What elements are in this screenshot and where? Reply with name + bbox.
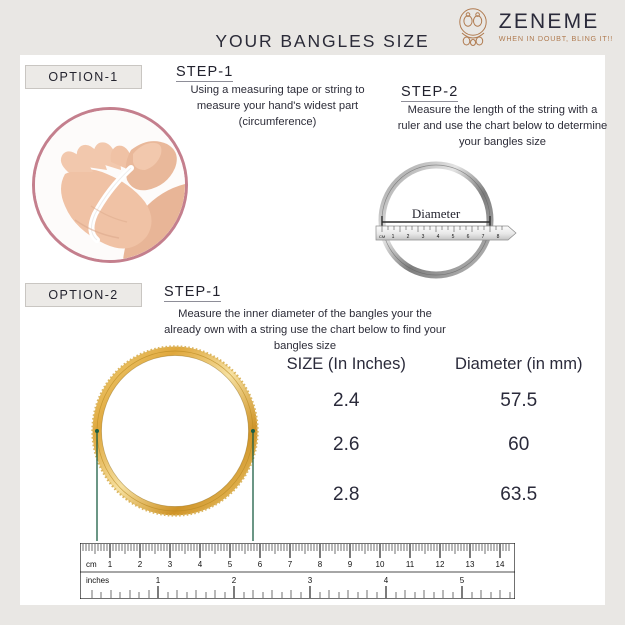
svg-text:13: 13 — [466, 560, 475, 569]
svg-text:12: 12 — [436, 560, 445, 569]
cell-size: 2.6 — [260, 424, 433, 470]
brand-name: ZENEME — [499, 11, 613, 32]
size-chart-table: SIZE (In Inches) Diameter (in mm) 2.4 57… — [260, 355, 605, 518]
svg-text:3: 3 — [168, 560, 173, 569]
svg-text:7: 7 — [288, 560, 293, 569]
column-header-diameter: Diameter (in mm) — [433, 355, 606, 378]
svg-text:4: 4 — [198, 560, 203, 569]
svg-text:8: 8 — [497, 234, 500, 240]
inches-label: inches — [86, 576, 109, 585]
cell-diameter: 57.5 — [433, 378, 606, 424]
cell-size: 2.4 — [260, 378, 433, 424]
step-1-text: Using a measuring tape or string to meas… — [170, 82, 385, 131]
option-1-step-2: STEP-2 Measure the length of the string … — [395, 83, 610, 151]
svg-text:2: 2 — [407, 234, 410, 240]
page-title: YOUR BANGLES SIZE — [215, 31, 430, 56]
svg-text:4: 4 — [437, 234, 440, 240]
table-row: 2.8 63.5 — [260, 470, 605, 518]
cell-diameter: 60 — [433, 424, 606, 470]
gold-bangle-photo — [75, 343, 275, 548]
svg-text:1: 1 — [392, 234, 395, 240]
step-2-text: Measure the length of the string with a … — [395, 102, 610, 151]
svg-text:14: 14 — [496, 560, 505, 569]
svg-text:1: 1 — [156, 576, 161, 585]
cm-label: cm — [86, 560, 97, 569]
svg-text:10: 10 — [376, 560, 385, 569]
column-header-size: SIZE (In Inches) — [260, 355, 433, 378]
diameter-label: Diameter — [412, 206, 461, 221]
brand-text: ZENEME WHEN IN DOUBT, BLING IT!! — [499, 11, 613, 42]
bottom-ruler: cm 123 456 789 101112 1314 inches 123 45 — [80, 543, 515, 599]
table-header-row: SIZE (In Inches) Diameter (in mm) — [260, 355, 605, 378]
svg-text:11: 11 — [406, 560, 415, 569]
table-row: 2.4 57.5 — [260, 378, 605, 424]
hand-with-string-illustration — [35, 110, 185, 260]
svg-text:3: 3 — [422, 234, 425, 240]
option-2-badge: OPTION-2 — [25, 283, 142, 307]
option-1-badge: OPTION-1 — [25, 65, 142, 89]
svg-text:5: 5 — [228, 560, 233, 569]
table-row: 2.6 60 — [260, 424, 605, 470]
hand-measure-photo — [32, 107, 188, 263]
svg-text:8: 8 — [318, 560, 323, 569]
cell-diameter: 63.5 — [433, 470, 606, 518]
svg-text:2: 2 — [232, 576, 237, 585]
svg-text:6: 6 — [258, 560, 263, 569]
svg-text:6: 6 — [467, 234, 470, 240]
svg-text:2: 2 — [138, 560, 143, 569]
svg-text:5: 5 — [460, 576, 465, 585]
silver-bangle-diameter-diagram: Diameter — [350, 160, 530, 280]
brand-logo: ZENEME WHEN IN DOUBT, BLING IT!! — [453, 6, 613, 48]
svg-text:1: 1 — [108, 560, 113, 569]
bangle-size-guide-page: ZENEME WHEN IN DOUBT, BLING IT!! YOUR BA… — [0, 0, 625, 625]
zeneme-earrings-logo-icon — [453, 6, 493, 48]
cm-inch-ruler-graphic: cm 123 456 789 101112 1314 inches 123 45 — [80, 543, 515, 599]
svg-text:5: 5 — [452, 234, 455, 240]
option-1-step-1: STEP-1 Using a measuring tape or string … — [170, 63, 385, 131]
cell-size: 2.8 — [260, 470, 433, 518]
step-1-heading: STEP-1 — [176, 64, 233, 82]
svg-text:4: 4 — [384, 576, 389, 585]
svg-text:9: 9 — [348, 560, 353, 569]
brand-tagline: WHEN IN DOUBT, BLING IT!! — [499, 35, 613, 42]
svg-text:3: 3 — [308, 576, 313, 585]
cm-unit-label: CM — [379, 234, 385, 239]
option-2-step-1-heading: STEP-1 — [164, 284, 221, 302]
step-2-heading: STEP-2 — [401, 84, 458, 102]
svg-text:7: 7 — [482, 234, 485, 240]
content-card: OPTION-1 STEP-1 Using a measuring tape o… — [20, 55, 605, 605]
